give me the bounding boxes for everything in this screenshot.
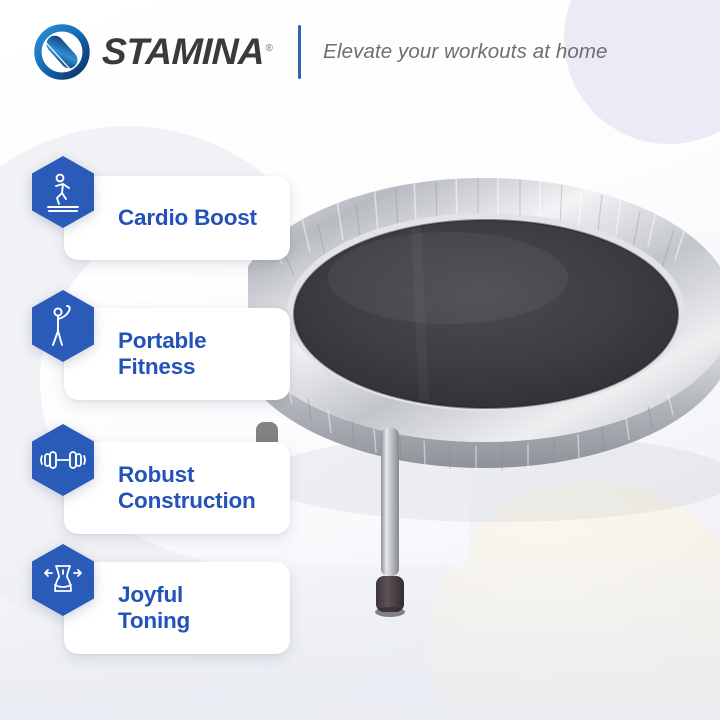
feature-label: Robust Construction (118, 462, 256, 513)
leg-foot-cap (376, 576, 404, 612)
stamina-circle-logo-icon (34, 24, 90, 80)
brand-name: STAMINA (101, 31, 265, 72)
feature-card-list: Cardio Boost Portable Fitness (0, 0, 320, 720)
feature-card-robust-construction[interactable]: Robust Construction (64, 442, 290, 534)
brand-header: STAMINA® Elevate your workouts at home (0, 0, 720, 104)
treadmill-runner-icon (30, 155, 96, 229)
registered-mark: ® (265, 43, 272, 54)
feature-label: Cardio Boost (118, 205, 257, 231)
stretching-person-icon (30, 289, 96, 363)
feature-card-portable-fitness[interactable]: Portable Fitness (64, 308, 290, 400)
feature-card-joyful-toning[interactable]: Joyful Toning (64, 562, 290, 654)
feature-label: Portable Fitness (118, 328, 206, 379)
header-divider (298, 25, 301, 79)
brand-wordmark: STAMINA® (101, 31, 273, 73)
waist-toning-icon (30, 543, 96, 617)
marketing-panel: STAMINA® Elevate your workouts at home (0, 0, 720, 720)
header-tagline: Elevate your workouts at home (323, 40, 607, 64)
feature-card-cardio-boost[interactable]: Cardio Boost (64, 176, 290, 260)
feature-label: Joyful Toning (118, 582, 190, 633)
dumbbell-icon (30, 423, 96, 497)
